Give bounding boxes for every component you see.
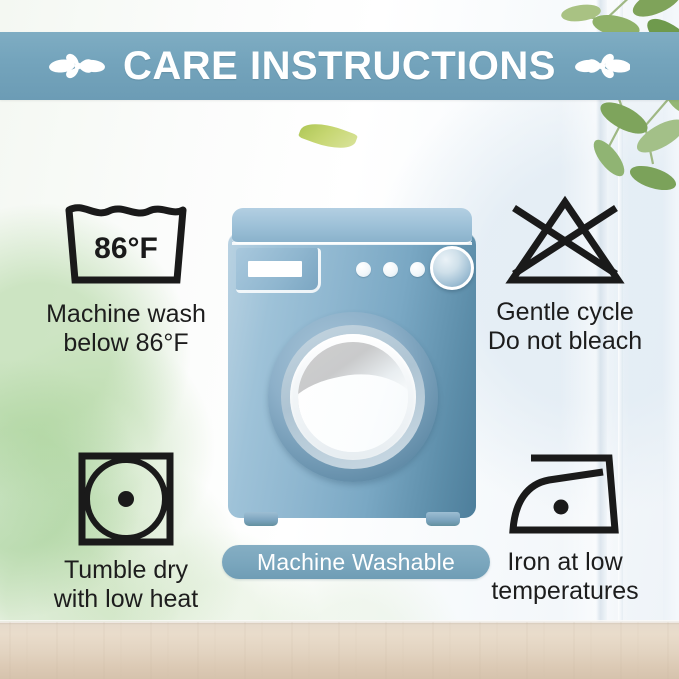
program-selector-knob [430,246,474,290]
control-button-1-icon [356,262,371,277]
care-caption: Gentle cycle Do not bleach [488,298,642,356]
washer-door [268,312,438,482]
header-banner: CARE INSTRUCTIONS [0,32,679,100]
washer-drum-highlight [298,362,408,452]
washer-door-ring-outer [281,325,425,469]
washing-machine-foot-left [244,512,278,526]
care-caption-line1: Tumble dry [54,556,199,585]
care-caption-line2: Do not bleach [488,327,642,356]
washer-door-ring-inner [290,334,416,460]
care-caption-line1: Iron at low [491,548,638,577]
iron-icon [503,450,627,540]
care-caption-line2: temperatures [491,577,638,606]
tumble-dry-square-icon [74,450,178,548]
control-buttons [356,262,425,277]
washing-machine-foot-right [426,512,460,526]
care-instructions-graphic: CARE INSTRUCTIONS 86°F Machine wash belo… [0,0,679,679]
care-symbol-iron: Iron at low temperatures [452,450,678,606]
washing-machine-top-lid [232,208,472,244]
fleur-de-lis-ornament-left-icon [49,46,105,86]
machine-washable-badge-label: Machine Washable [257,549,455,576]
care-caption: Machine wash below 86°F [46,300,206,358]
wood-countertop [0,622,679,679]
care-caption: Iron at low temperatures [491,548,638,606]
control-button-3-icon [410,262,425,277]
washing-machine-illustration [228,208,476,528]
control-button-2-icon [383,262,398,277]
control-panel-divider [232,242,472,245]
detergent-drawer-slot [248,261,302,277]
care-caption: Tumble dry with low heat [54,556,199,614]
page-title: CARE INSTRUCTIONS [123,44,556,89]
wash-temperature-label: 86°F [94,232,158,265]
machine-washable-badge: Machine Washable [222,545,490,579]
detergent-drawer [236,248,321,293]
care-caption-line2: below 86°F [46,329,206,358]
care-caption-line2: with low heat [54,585,199,614]
care-caption-line1: Machine wash [46,300,206,329]
washer-door-glass [298,342,408,452]
fleur-de-lis-ornament-right-icon [574,46,630,86]
care-symbol-tumble-dry: Tumble dry with low heat [22,450,230,614]
triangle-crossed-no-bleach-icon [500,194,630,290]
wash-tub-icon: 86°F [57,196,195,292]
care-symbol-do-not-bleach: Gentle cycle Do not bleach [452,194,678,356]
care-symbol-machine-wash: 86°F Machine wash below 86°F [22,196,230,358]
care-caption-line1: Gentle cycle [488,298,642,327]
